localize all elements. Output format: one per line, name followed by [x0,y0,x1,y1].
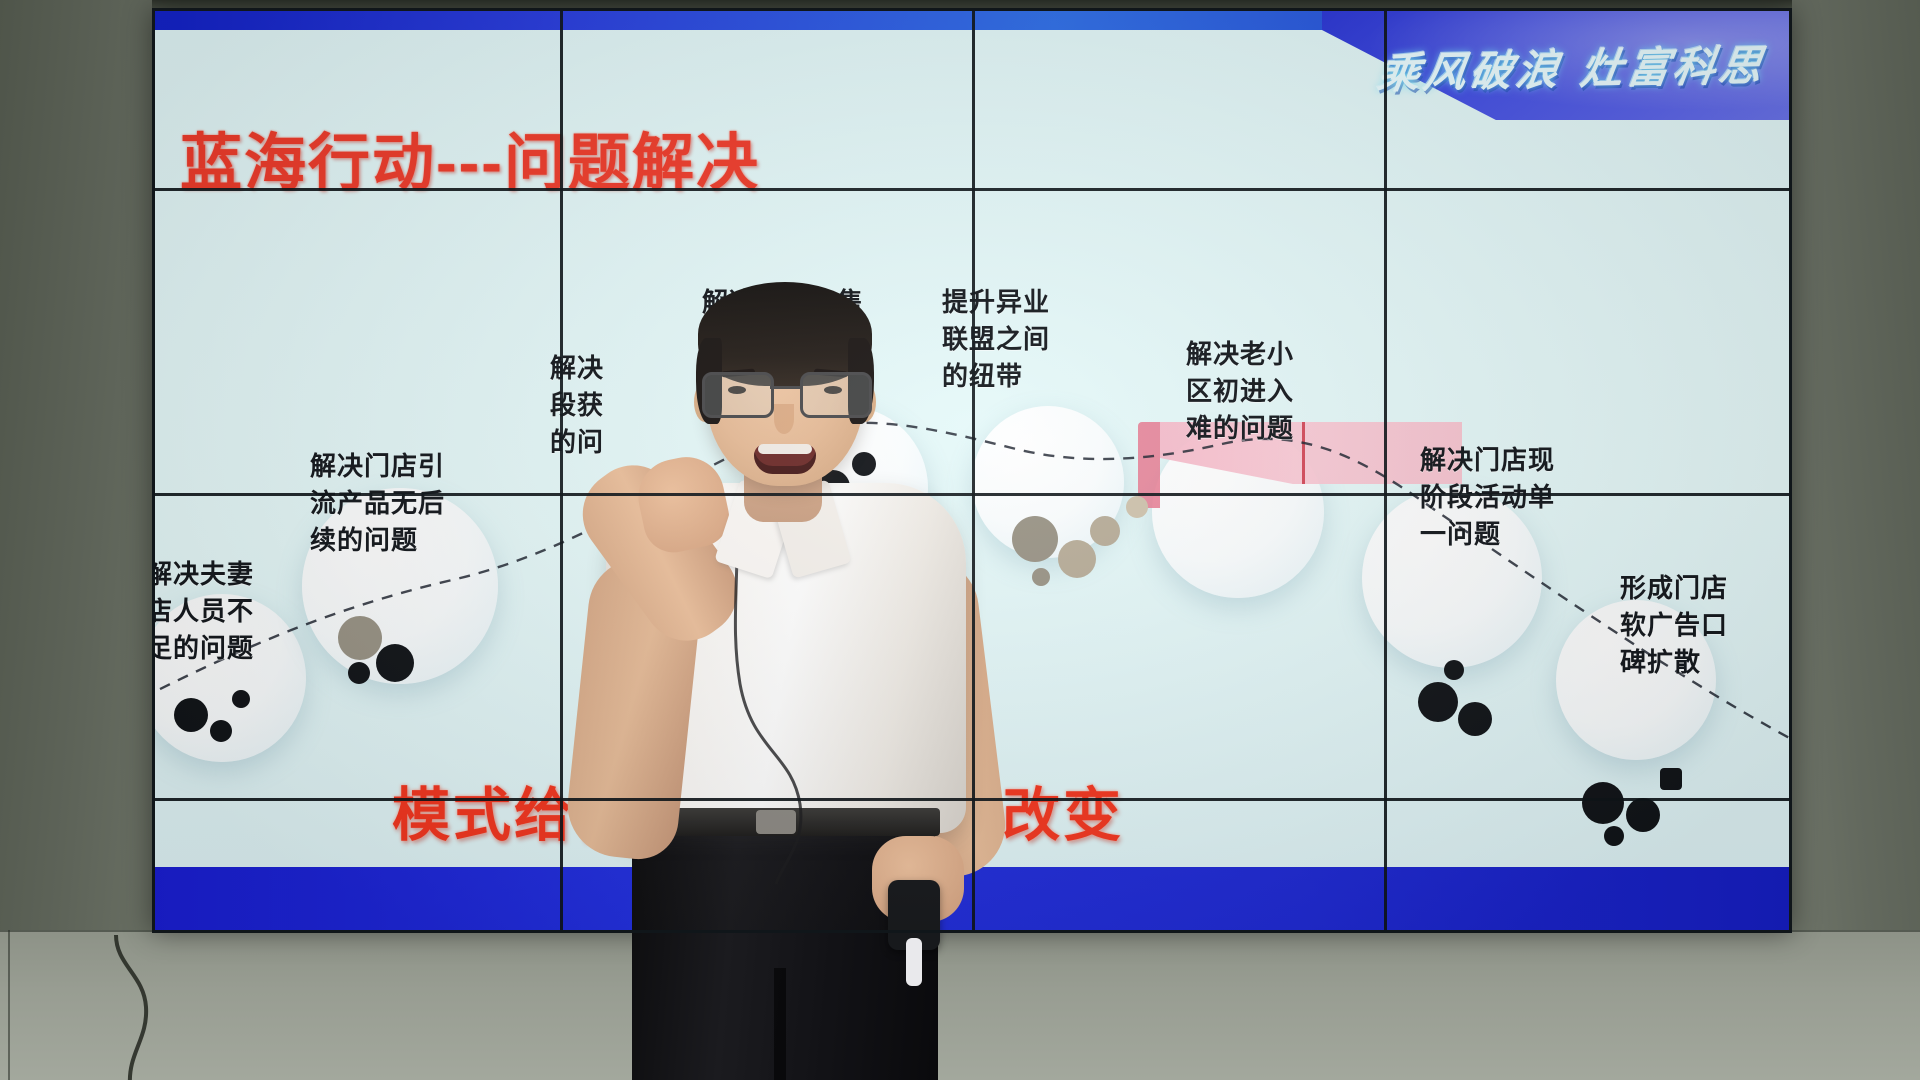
screenshot-stage: 乘风破浪 灶富科思 [0,0,1920,1080]
dot-cluster-1c [232,690,250,708]
dot-cluster-5c [1090,516,1120,546]
dot-cluster-6c [1444,660,1464,680]
bezel-col-2 [972,8,975,933]
presenter-trouser-seam [774,968,786,1080]
callout-traffic-product: 解决门店引 流产品无后 续的问题 [310,448,445,559]
dot-cluster-6a [1418,682,1458,722]
callout-old-community-entry: 解决老小 区初进入 难的问题 [1186,336,1294,447]
glasses-lens-left [702,372,774,418]
dot-cluster-2c [348,662,370,684]
dot-cluster-5a [1012,516,1058,562]
highlight-divider [1302,422,1305,484]
presenter-person [576,308,996,1080]
wall-left [0,0,152,1080]
glasses-bridge [770,386,800,389]
dot-cluster-6b [1458,702,1492,736]
callout-single-activity: 解决门店现 阶段活动单 一问题 [1420,442,1555,553]
dot-cluster-1a [174,698,208,732]
wall-right [1792,0,1920,1080]
callout-couple-store-staff: 解决夫妻 店人员不 足的问题 [152,556,254,667]
dot-cluster-5d [1126,496,1148,518]
dot-cluster-1b [210,720,232,742]
power-cable [110,935,180,1080]
glasses-lens-right [800,372,872,418]
dot-cluster-7d [1660,768,1682,790]
dot-cluster-2a [338,616,382,660]
dot-cluster-7c [1604,826,1624,846]
video-wall-display[interactable]: 乘风破浪 灶富科思 [152,8,1792,933]
bezel-col-3 [1384,8,1387,933]
dot-cluster-7a [1582,782,1624,824]
slide-brand-calligraphy: 乘风破浪 灶富科思 [1375,32,1771,101]
bezel-col-1 [560,8,563,933]
presenter-teeth [758,444,812,454]
presentation-clicker-tip [906,938,922,986]
presenter-nose [774,404,794,434]
dot-cluster-5e [1032,568,1050,586]
dot-cluster-7b [1626,798,1660,832]
bubble-large-5 [1152,426,1324,598]
callout-word-of-mouth: 形成门店 软广告口 碑扩散 [1620,570,1728,681]
wall-seam-vertical [8,930,10,1080]
dot-cluster-2b [376,644,414,682]
dot-cluster-5b [1058,540,1096,578]
